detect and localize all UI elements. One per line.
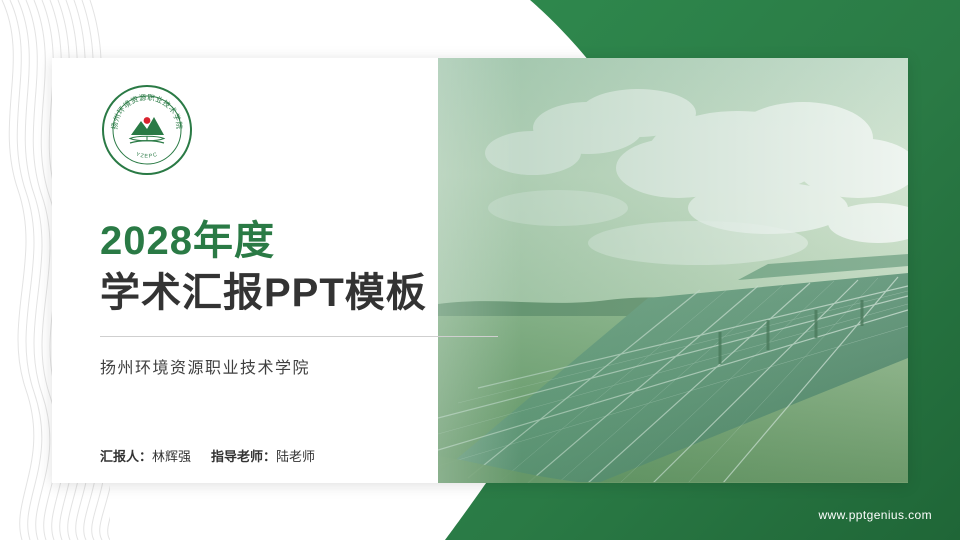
slide-root: 扬州环境资源职业技术学院 YZEPC 2028年度 学术汇报PPT模板 扬州环境…	[0, 0, 960, 540]
advisor-label: 指导老师：	[211, 449, 276, 464]
svg-text:扬州环境资源职业技术学院: 扬州环境资源职业技术学院	[110, 93, 184, 130]
title-text-block: 2028年度 学术汇报PPT模板 扬州环境资源职业技术学院	[100, 218, 520, 378]
school-name-subtitle: 扬州环境资源职业技术学院	[100, 354, 520, 378]
school-emblem-logo: 扬州环境资源职业技术学院 YZEPC	[100, 83, 194, 177]
advisor-name: 陆老师	[276, 449, 315, 464]
presenter-label: 汇报人：	[100, 449, 152, 464]
presenter-name: 林辉强	[152, 449, 191, 464]
presenter-meta-line: 汇报人：林辉强指导老师：陆老师	[100, 446, 315, 465]
svg-text:YZEPC: YZEPC	[135, 152, 159, 160]
title-card: 扬州环境资源职业技术学院 YZEPC 2028年度 学术汇报PPT模板 扬州环境…	[52, 58, 908, 483]
website-url[interactable]: www.pptgenius.com	[818, 508, 932, 522]
page-title-year: 2028年度	[100, 218, 520, 265]
page-title-main: 学术汇报PPT模板	[100, 269, 520, 318]
title-divider	[100, 336, 498, 337]
